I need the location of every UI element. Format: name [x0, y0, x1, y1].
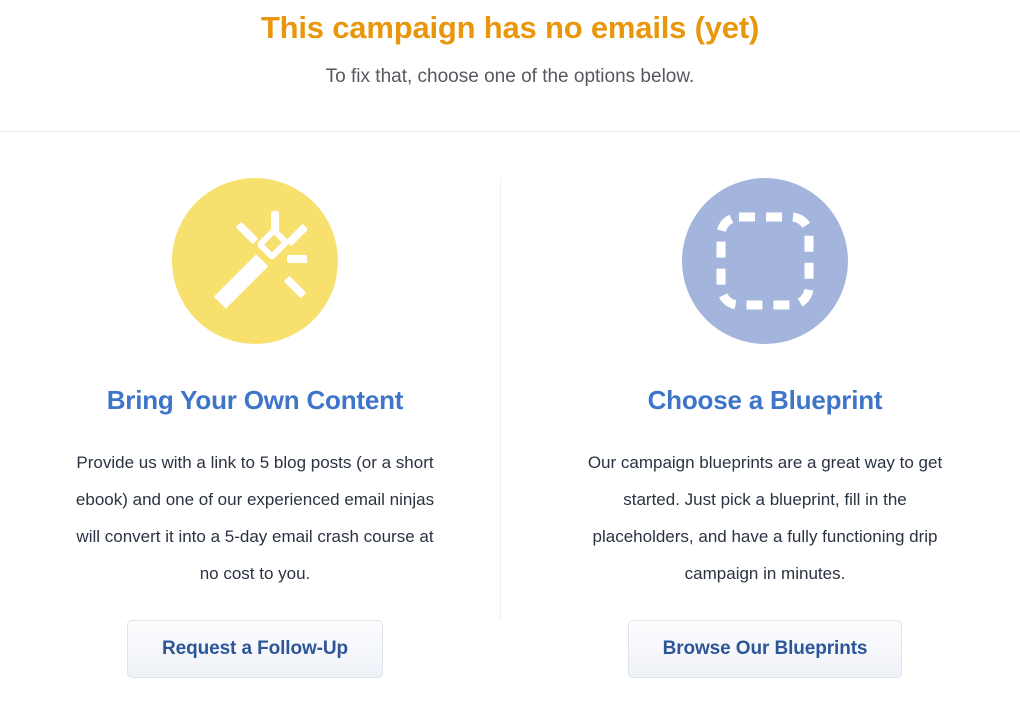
page-title: This campaign has no emails (yet)	[0, 8, 1020, 48]
empty-state-header: This campaign has no emails (yet) To fix…	[0, 0, 1020, 92]
option-bring-your-own-content: Bring Your Own Content Provide us with a…	[0, 160, 510, 678]
header-divider	[0, 131, 1020, 132]
browse-our-blueprints-button[interactable]: Browse Our Blueprints	[628, 620, 903, 678]
option-heading: Bring Your Own Content	[107, 384, 404, 416]
option-heading: Choose a Blueprint	[648, 384, 883, 416]
option-choose-a-blueprint: Choose a Blueprint Our campaign blueprin…	[510, 160, 1020, 678]
page-subtitle: To fix that, choose one of the options b…	[0, 62, 1020, 92]
option-description: Our campaign blueprints are a great way …	[585, 444, 945, 592]
magic-wand-icon	[172, 178, 338, 344]
request-a-follow-up-button[interactable]: Request a Follow-Up	[127, 620, 383, 678]
option-description: Provide us with a link to 5 blog posts (…	[75, 444, 435, 592]
options-container: Bring Your Own Content Provide us with a…	[0, 160, 1020, 678]
dashed-square-blueprint-icon	[682, 178, 848, 344]
column-divider	[500, 178, 501, 621]
